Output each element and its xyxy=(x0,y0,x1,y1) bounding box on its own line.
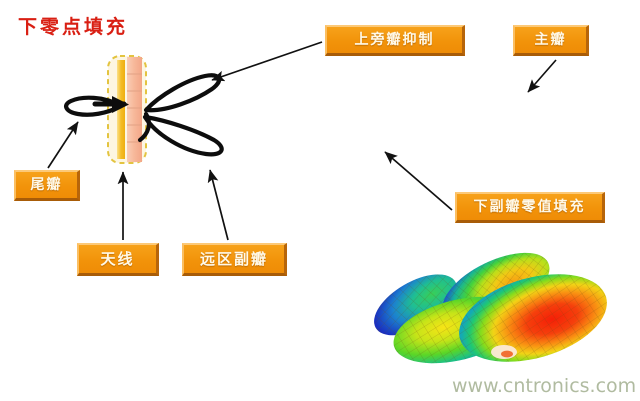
arrow-upper-sidelobe xyxy=(212,42,322,80)
pattern-feed-point xyxy=(501,351,513,358)
label-antenna-text: 天线 xyxy=(100,252,134,267)
diagram-canvas: 下零点填充 xyxy=(0,0,640,401)
antenna-radiator-strip xyxy=(127,57,142,162)
label-main-lobe-text: 主瓣 xyxy=(535,33,567,47)
upper-sidelobe-shape xyxy=(146,75,219,110)
arrow-tail-lobe xyxy=(48,122,78,168)
main-lobe-shape xyxy=(145,117,222,154)
label-tail-lobe[interactable]: 尾瓣 xyxy=(14,170,80,201)
label-upper-sidelobe-suppression[interactable]: 上旁瓣抑制 xyxy=(325,25,465,56)
3d-radiation-pattern xyxy=(364,238,617,377)
label-far-field-sidelobe[interactable]: 远区副瓣 xyxy=(182,243,287,276)
label-antenna[interactable]: 天线 xyxy=(77,243,159,276)
arrow-far-sidelobe xyxy=(210,170,228,240)
label-lower-sidelobe-null-filling[interactable]: 下副瓣零值填充 xyxy=(455,192,605,223)
label-lower-sidelobe-null-filling-text: 下副瓣零值填充 xyxy=(474,200,586,214)
label-main-lobe[interactable]: 主瓣 xyxy=(513,25,589,56)
label-far-field-sidelobe-text: 远区副瓣 xyxy=(200,252,268,267)
watermark: www.cntronics.com xyxy=(452,375,636,397)
arrow-null-filling xyxy=(385,152,452,210)
arrow-main-lobe xyxy=(528,60,556,92)
label-upper-sidelobe-suppression-text: 上旁瓣抑制 xyxy=(355,33,435,47)
label-tail-lobe-text: 尾瓣 xyxy=(31,178,63,192)
